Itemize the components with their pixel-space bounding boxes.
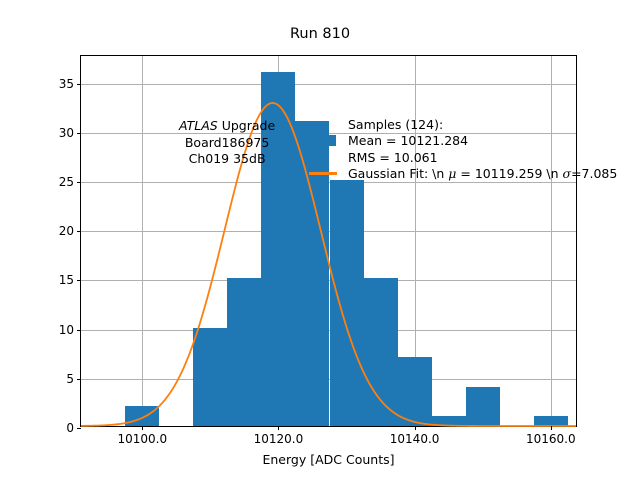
chart-legend: Samples (124): Mean = 10121.284 RMS = 10… (303, 116, 617, 182)
legend-swatch-key (303, 135, 343, 146)
x-axis-tick-label: 10160.0 (526, 432, 576, 446)
y-axis-tick-label: 0 (66, 421, 74, 435)
legend-rms-label: RMS = 10.061 (303, 150, 438, 165)
y-axis-tick (77, 379, 81, 380)
annotation-line-2: Board186975 (179, 135, 275, 152)
legend-entry-fit: Gaussian Fit: \n μ = 10119.259 \n σ=7.08… (303, 166, 617, 183)
legend-mean-label: Mean = 10121.284 (343, 133, 468, 148)
fit-line-swatch (309, 172, 337, 175)
x-axis-label: Energy [ADC Counts] (80, 452, 577, 467)
atlas-label: ATLAS (179, 118, 218, 133)
legend-line-key (303, 172, 343, 175)
legend-fit-label: Gaussian Fit: \n μ = 10119.259 \n σ=7.08… (343, 166, 617, 181)
y-axis-tick-label: 30 (59, 126, 74, 140)
x-axis-tick-label: 10120.0 (254, 432, 304, 446)
y-axis-tick-label: 20 (59, 224, 74, 238)
x-axis-tick (551, 426, 552, 430)
y-axis-tick (77, 133, 81, 134)
y-axis-tick (77, 280, 81, 281)
fit-prefix: Gaussian Fit: \n (348, 166, 448, 181)
y-axis-tick-label: 5 (66, 372, 74, 386)
experiment-annotation: ATLAS Upgrade Board186975 Ch019 35dB (179, 118, 275, 168)
y-axis-tick (77, 84, 81, 85)
annotation-line-1: ATLAS Upgrade (179, 118, 275, 135)
legend-entry-rms: RMS = 10.061 (303, 149, 617, 166)
y-axis-tick (77, 428, 81, 429)
legend-title: Samples (124): (303, 117, 443, 132)
gaussian-fit-curve (81, 56, 576, 426)
x-axis-tick (278, 426, 279, 430)
figure-canvas: Run 810 ATLAS Upgrade Board186975 Ch019 … (0, 0, 640, 480)
upgrade-label: Upgrade (218, 118, 275, 133)
annotation-line-3: Ch019 35dB (179, 151, 275, 168)
x-axis-tick (415, 426, 416, 430)
histogram-swatch (310, 135, 336, 146)
sigma-value: =7.085 (571, 166, 617, 181)
chart-title: Run 810 (0, 26, 640, 42)
y-axis-tick (77, 330, 81, 331)
x-axis-tick (142, 426, 143, 430)
y-axis-tick (77, 231, 81, 232)
y-axis-tick-label: 10 (59, 323, 74, 337)
sigma-symbol: σ (563, 166, 572, 181)
mu-value: = 10119.259 \n (456, 166, 562, 181)
y-axis-tick-label: 35 (59, 77, 74, 91)
plot-area: ATLAS Upgrade Board186975 Ch019 35dB Sam… (80, 55, 577, 427)
y-axis-tick-label: 15 (59, 273, 74, 287)
y-axis-tick (77, 182, 81, 183)
legend-entry-samples: Mean = 10121.284 (303, 133, 617, 150)
x-axis-tick-label: 10100.0 (117, 432, 167, 446)
y-axis-tick-label: 25 (59, 175, 74, 189)
x-axis-tick-label: 10140.0 (390, 432, 440, 446)
legend-title-row: Samples (124): (303, 116, 617, 133)
